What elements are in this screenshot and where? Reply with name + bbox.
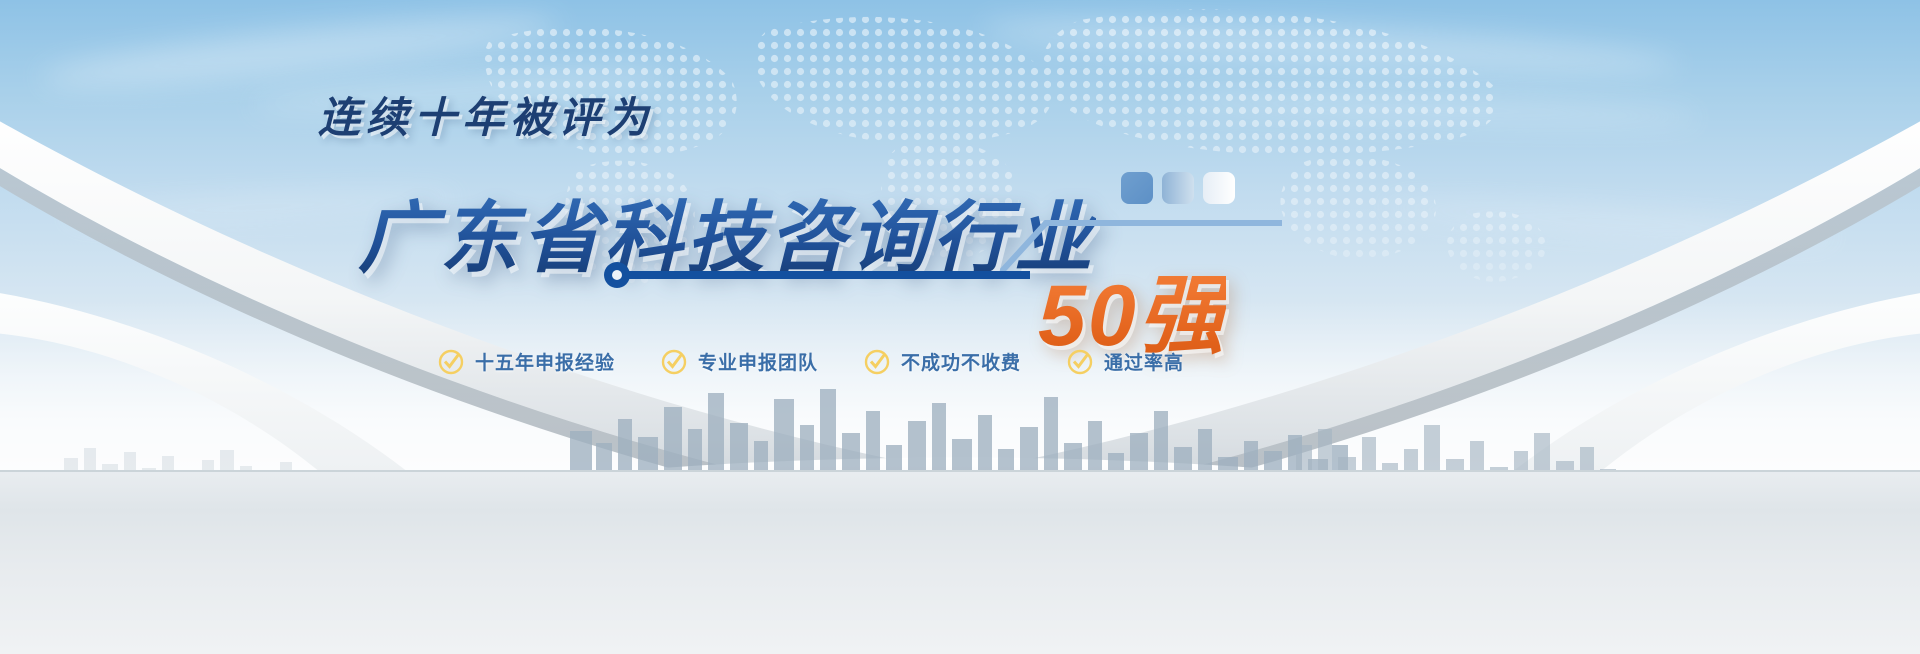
feature-label: 不成功不收费 bbox=[901, 348, 1021, 375]
banner-copy: 连续十年被评为 广东省科技咨询行业 50强 十五年申报经验 bbox=[0, 0, 1920, 654]
square-light-icon bbox=[1203, 172, 1235, 204]
eyebrow-text: 连续十年被评为 bbox=[318, 84, 654, 145]
check-circle-icon bbox=[661, 349, 687, 375]
feature-list: 十五年申报经验 专业申报团队 不成功不收费 bbox=[438, 348, 1184, 375]
feature-label: 通过率高 bbox=[1104, 348, 1184, 375]
feature-label: 专业申报团队 bbox=[698, 348, 818, 375]
check-circle-icon bbox=[438, 349, 464, 375]
feature-label: 十五年申报经验 bbox=[475, 348, 615, 375]
square-solid-icon bbox=[1121, 172, 1153, 204]
promo-banner: 连续十年被评为 广东省科技咨询行业 50强 十五年申报经验 bbox=[0, 0, 1920, 654]
check-circle-icon bbox=[864, 349, 890, 375]
decor-squares bbox=[1121, 172, 1235, 204]
feature-item: 专业申报团队 bbox=[661, 348, 818, 375]
feature-item: 通过率高 bbox=[1067, 348, 1184, 375]
feature-item: 十五年申报经验 bbox=[438, 348, 615, 375]
navy-origin-dot bbox=[604, 262, 630, 288]
square-mid-icon bbox=[1162, 172, 1194, 204]
check-circle-icon bbox=[1067, 349, 1093, 375]
navy-horizontal-rule bbox=[622, 271, 1030, 279]
feature-item: 不成功不收费 bbox=[864, 348, 1021, 375]
